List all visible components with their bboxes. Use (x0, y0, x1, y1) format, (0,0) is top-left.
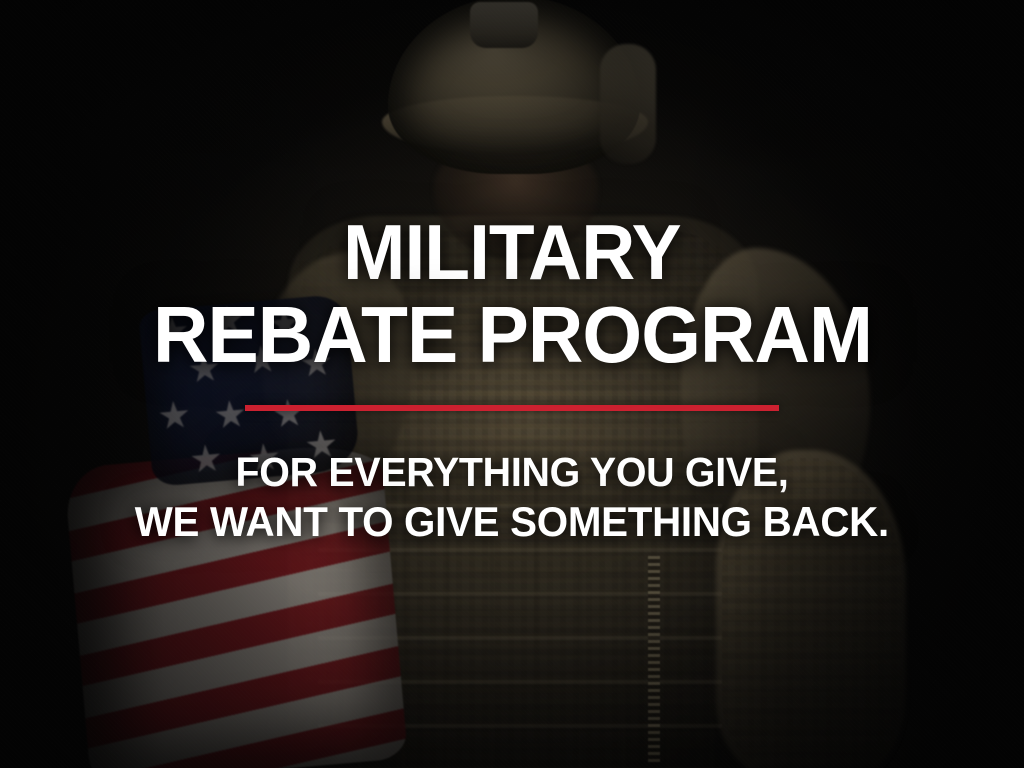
poster: MILITARY REBATE PROGRAM FOR EVERYTHING Y… (0, 0, 1024, 768)
subheadline-line-1: FOR EVERYTHING YOU GIVE, (236, 451, 789, 494)
poster-content: MILITARY REBATE PROGRAM FOR EVERYTHING Y… (0, 0, 1024, 768)
subheadline-line-2: WE WANT TO GIVE SOMETHING BACK. (135, 500, 889, 545)
headline-line-1: MILITARY (343, 214, 681, 290)
red-divider-rule (245, 405, 779, 411)
headline-line-2: REBATE PROGRAM (152, 296, 871, 374)
